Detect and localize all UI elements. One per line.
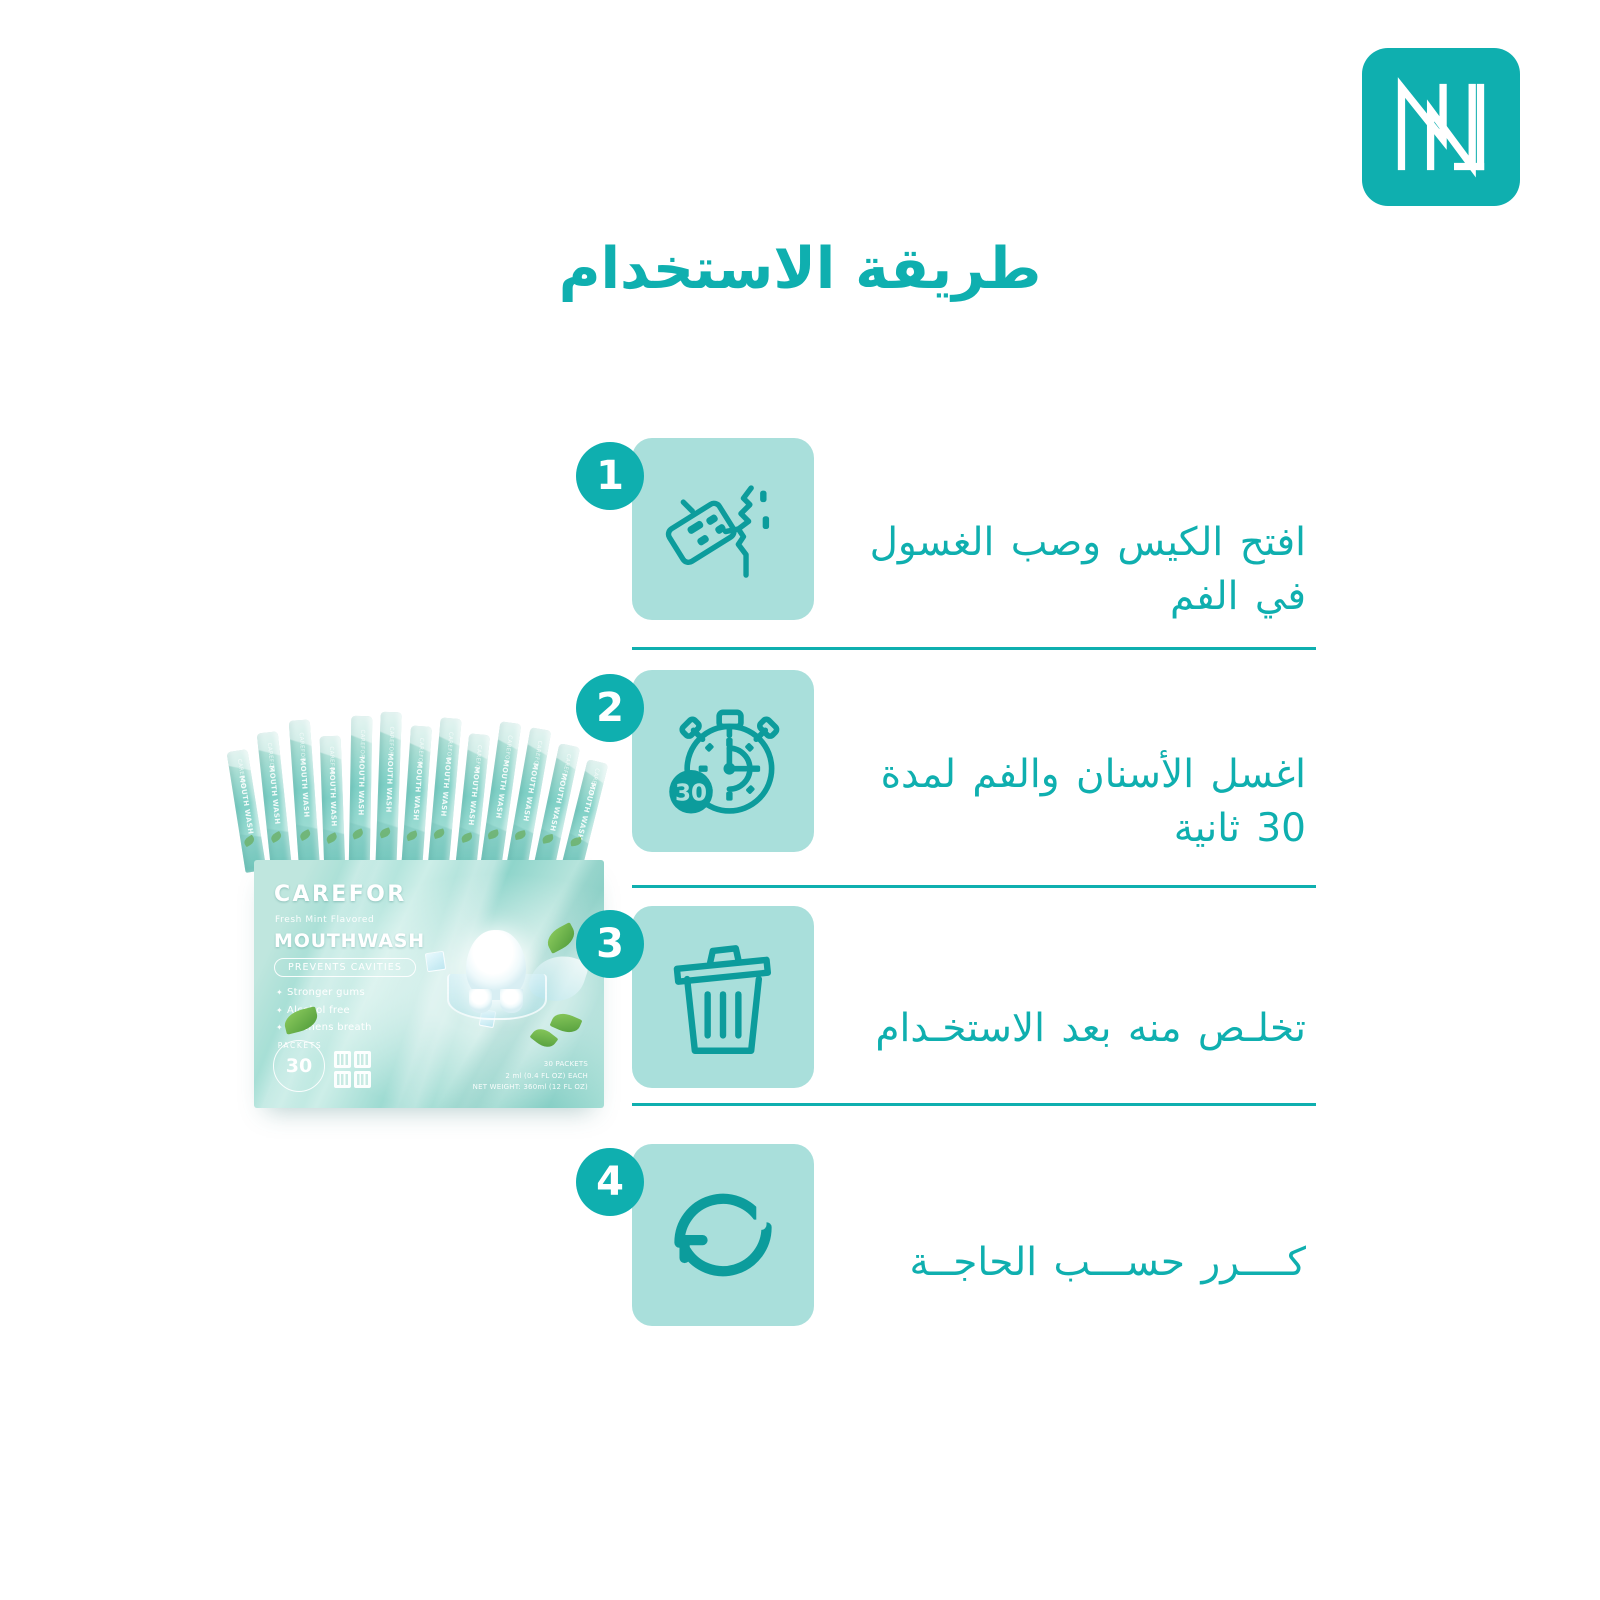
step-icon-tile bbox=[632, 1144, 814, 1326]
sachet-pour-into-mouth-icon bbox=[659, 465, 787, 593]
mint-leaf-icon bbox=[461, 832, 474, 843]
step-icon-tile bbox=[632, 906, 814, 1088]
stick-label: MOUTH WASH bbox=[494, 759, 510, 819]
step-divider bbox=[632, 885, 1316, 888]
sachet-stick: CAREFOR MOUTH WASH bbox=[289, 719, 321, 872]
usage-step-2: 30 2 اغسل الأسنان والفم لمدة 30 ثانية bbox=[632, 670, 1324, 880]
brand-logo bbox=[1362, 48, 1520, 206]
step-description: كــــرر حســـب الحاجــة bbox=[814, 1144, 1324, 1290]
tooth-icon bbox=[466, 930, 526, 1000]
stick-brand-text: CAREFOR bbox=[416, 738, 424, 767]
pictogram-icon bbox=[354, 1051, 371, 1068]
usage-step-1: 1 افتح الكيس وصب الغسول في الفم bbox=[632, 438, 1324, 646]
product-brand-name: CAREFOR bbox=[274, 882, 407, 907]
mint-leaf-icon bbox=[242, 835, 256, 848]
sachet-stick: CAREFOR MOUTH WASH bbox=[349, 716, 373, 872]
stick-brand-text: CAREFOR bbox=[297, 733, 305, 762]
stick-brand-text: CAREFOR bbox=[265, 743, 274, 772]
usage-step-4: 4 كــــرر حســـب الحاجــة bbox=[632, 1144, 1324, 1330]
stick-label: MOUTH WASH bbox=[327, 767, 337, 827]
product-meta-block: 30 PACKETS 2 ml (0.4 FL OZ) EACH NET WEI… bbox=[473, 1059, 588, 1094]
mint-leaf-icon bbox=[405, 830, 418, 841]
stick-label: MOUTH WASH bbox=[267, 765, 281, 825]
stick-label: MOUTH WASH bbox=[298, 758, 310, 818]
ice-cube-icon bbox=[425, 951, 446, 972]
stick-label: MOUTH WASH bbox=[356, 756, 365, 816]
step-description: اغسل الأسنان والفم لمدة 30 ثانية bbox=[814, 670, 1324, 856]
usage-step-3: 3 تخلـص منه بعد الاستخـدام bbox=[632, 906, 1324, 1104]
stick-label: MOUTH WASH bbox=[575, 781, 597, 841]
step-description: افتح الكيس وصب الغسول في الفم bbox=[814, 438, 1324, 624]
stick-brand-text: CAREFOR bbox=[559, 754, 571, 784]
stick-brand-text: CAREFOR bbox=[358, 729, 365, 758]
sachet-stick: CAREFOR MOUTH WASH bbox=[375, 712, 402, 873]
step-description: تخلـص منه بعد الاستخـدام bbox=[814, 906, 1324, 1056]
product-photo: CAREFOR MOUTH WASH CAREFOR MOUTH WASH CA… bbox=[232, 688, 604, 1120]
mint-leaf-icon bbox=[514, 830, 526, 840]
page-title: طريقة الاستخدام bbox=[0, 236, 1600, 302]
mint-leaf-icon bbox=[570, 837, 582, 846]
stick-brand-text: CAREFOR bbox=[531, 740, 542, 770]
stick-label: MOUTH WASH bbox=[411, 761, 423, 821]
handling-pictograms bbox=[334, 1051, 371, 1088]
step-divider bbox=[632, 647, 1316, 650]
meta-line: 30 PACKETS bbox=[473, 1059, 588, 1071]
step-visual: 1 bbox=[632, 438, 814, 620]
pictogram-icon bbox=[354, 1071, 371, 1088]
step-icon-tile: 30 bbox=[632, 670, 814, 852]
sachet-stick: CAREFOR MOUTH WASH bbox=[320, 736, 346, 873]
stick-brand-text: CAREFOR bbox=[445, 731, 454, 760]
mint-leaf-icon bbox=[351, 828, 364, 839]
step-number-badge: 3 bbox=[576, 910, 644, 978]
step-icon-tile bbox=[632, 438, 814, 620]
stick-label: MOUTH WASH bbox=[466, 766, 480, 826]
stick-brand-text: CAREFOR bbox=[327, 746, 334, 775]
mint-leaf-icon bbox=[543, 922, 579, 954]
tooth-splash-artwork bbox=[414, 918, 582, 1038]
stick-brand-text: CAREFOR bbox=[587, 767, 600, 797]
mint-leaf-icon bbox=[433, 828, 446, 839]
list-item: Stronger gums bbox=[276, 987, 372, 998]
mint-leaf-icon bbox=[298, 829, 311, 841]
mint-leaf-icon bbox=[269, 831, 282, 843]
step-number-badge: 2 bbox=[576, 674, 644, 742]
mint-leaf-icon bbox=[325, 832, 338, 844]
step-divider bbox=[632, 1103, 1316, 1106]
step-visual: 4 bbox=[632, 1144, 814, 1326]
meta-line: 2 ml (0.4 FL OZ) EACH bbox=[473, 1071, 588, 1083]
product-flavour: Fresh Mint Flavored bbox=[275, 915, 374, 925]
repeat-circular-arrows-icon bbox=[659, 1171, 787, 1299]
stick-label: MOUTH WASH bbox=[384, 753, 394, 813]
step-visual: 30 2 bbox=[632, 670, 814, 852]
product-name: MOUTHWASH bbox=[274, 930, 425, 952]
stick-brand-text: CAREFOR bbox=[235, 758, 245, 788]
mint-leaf-icon bbox=[379, 827, 392, 838]
step-number-badge: 1 bbox=[576, 442, 644, 510]
stick-brand-text: CAREFOR bbox=[387, 726, 394, 755]
stick-label: MOUTH WASH bbox=[439, 757, 452, 817]
mint-leaf-icon bbox=[542, 834, 554, 844]
stick-label: MOUTH WASH bbox=[548, 772, 568, 832]
pictogram-icon bbox=[334, 1071, 351, 1088]
product-box: CAREFOR Fresh Mint Flavored MOUTHWASH PR… bbox=[254, 860, 604, 1108]
stick-label: MOUTH WASH bbox=[237, 775, 254, 835]
sachet-stick: CAREFOR MOUTH WASH bbox=[401, 725, 432, 872]
stick-brand-text: CAREFOR bbox=[502, 735, 512, 765]
trash-can-icon bbox=[659, 933, 787, 1061]
pictogram-icon bbox=[334, 1051, 351, 1068]
step-visual: 3 bbox=[632, 906, 814, 1088]
nn-monogram-logo-icon bbox=[1389, 75, 1493, 179]
product-claim-badge: PREVENTS CAVITIES bbox=[274, 958, 416, 977]
stopwatch-seconds-label: 30 bbox=[675, 781, 707, 807]
sachet-sticks-group: CAREFOR MOUTH WASH CAREFOR MOUTH WASH CA… bbox=[232, 688, 604, 873]
packets-count-badge: 30 bbox=[273, 1040, 325, 1092]
stick-brand-text: CAREFOR bbox=[473, 745, 482, 774]
stick-label: MOUTH WASH bbox=[521, 763, 539, 823]
mint-leaf-icon bbox=[487, 829, 500, 839]
step-number-badge: 4 bbox=[576, 1148, 644, 1216]
usage-steps-list: 1 افتح الكيس وصب الغسول في الفم bbox=[632, 438, 1324, 1330]
meta-line: NET WEIGHT: 360ml (12 FL OZ) bbox=[473, 1082, 588, 1094]
mint-leaf-icon bbox=[550, 1009, 583, 1037]
stopwatch-30-seconds-icon: 30 bbox=[659, 697, 787, 825]
